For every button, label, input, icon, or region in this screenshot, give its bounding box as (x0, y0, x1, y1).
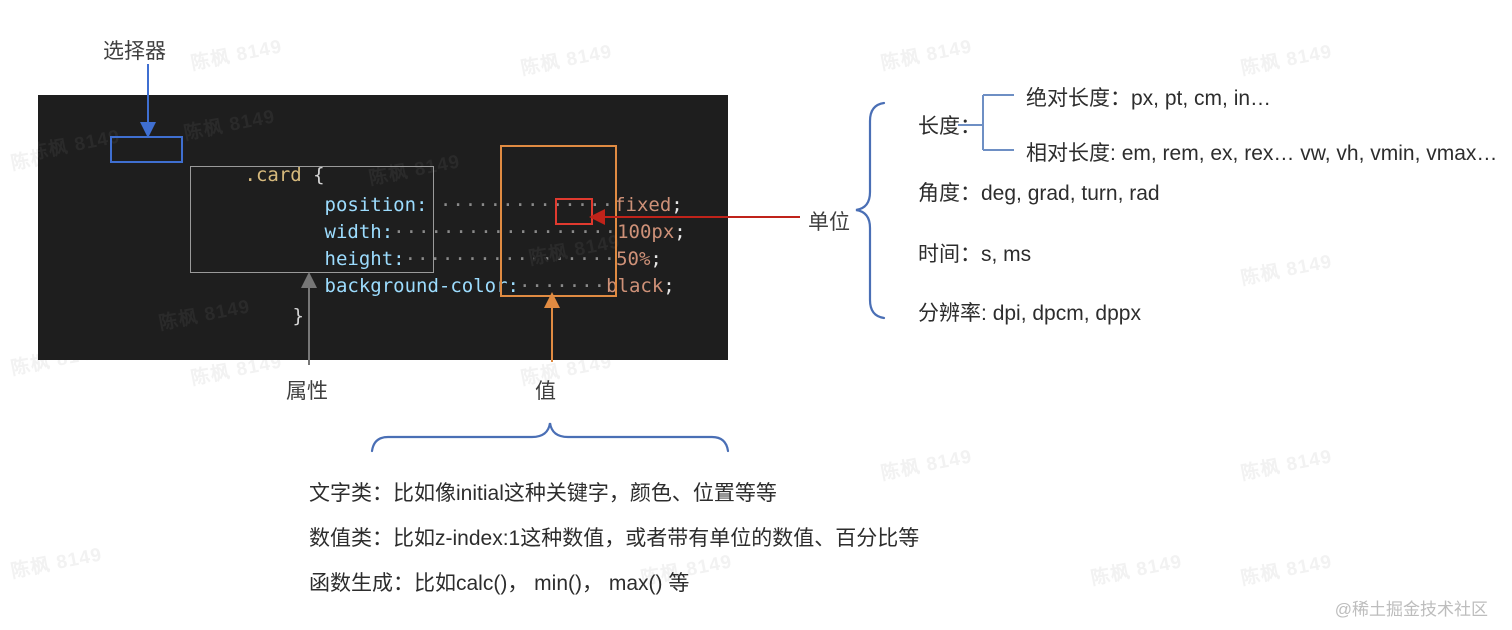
watermark: 陈枫 8149 (1238, 246, 1334, 290)
value-category-text: 函数生成：比如calc()， min()， max() 等 (309, 567, 689, 597)
value-category-text: 文字类：比如像initial这种关键字，颜色、位置等等 (309, 477, 777, 507)
watermark: 陈枫 8149 (878, 31, 974, 75)
unit-highlight-box (555, 198, 593, 225)
selector-highlight-box (110, 136, 183, 163)
label-property: 属性 (286, 375, 328, 405)
code-semicolon: ; (663, 275, 674, 297)
watermark: 陈枫 8149 (1088, 546, 1184, 590)
label-unit: 单位 (808, 206, 850, 236)
unit-row-angle: 角度：deg, grad, turn, rad (918, 177, 1160, 207)
watermark: 陈枫 8149 (878, 441, 974, 485)
unit-row-length: 长度： (918, 110, 981, 140)
unit-row-absolute-length: 绝对长度：px, pt, cm, in… (1026, 82, 1271, 112)
unit-resolution-label: 分辨率: (918, 302, 987, 325)
property-highlight-box (190, 166, 434, 273)
value-category-text: 数值类：比如z-index:1这种数值，或者带有单位的数值、百分比等 (309, 522, 919, 552)
unit-time-values: s, ms (981, 243, 1031, 266)
unit-relative-values: em, rem, ex, rex… vw, vh, vmin, vmax… (1122, 142, 1498, 165)
unit-row-relative-length: 相对长度: em, rem, ex, rex… vw, vh, vmin, vm… (1026, 137, 1497, 167)
unit-time-label: 时间： (918, 243, 981, 266)
watermark: 陈枫 8149 (188, 31, 284, 75)
unit-resolution-values: dpi, dpcm, dppx (993, 302, 1141, 325)
watermark: 陈枫 8149 (1238, 36, 1334, 80)
code-property: background-color: (325, 275, 519, 297)
unit-absolute-label: 绝对长度： (1026, 87, 1131, 110)
unit-absolute-values: px, pt, cm, in… (1131, 87, 1271, 110)
code-close-brace: } (293, 305, 304, 327)
watermark: 陈枫 8149 (1238, 441, 1334, 485)
unit-panel-brace (856, 103, 884, 318)
watermark: 陈枫 8149 (8, 539, 104, 583)
watermark: 陈枫 8149 (1238, 546, 1334, 590)
unit-relative-label: 相对长度: (1026, 142, 1116, 165)
unit-row-resolution: 分辨率: dpi, dpcm, dppx (918, 297, 1141, 327)
value-brace (372, 423, 728, 451)
watermark: 陈枫 8149 (518, 36, 614, 80)
unit-angle-label: 角度： (918, 182, 981, 205)
unit-row-time: 时间：s, ms (918, 238, 1031, 268)
unit-angle-values: deg, grad, turn, rad (981, 182, 1160, 205)
unit-length-label: 长度： (918, 115, 981, 138)
footer-brand: @稀土掘金技术社区 (1335, 595, 1488, 620)
label-value: 值 (535, 375, 556, 405)
label-selector: 选择器 (103, 35, 166, 65)
code-semicolon: ; (674, 221, 685, 243)
diagram-canvas: 陈枫 8149 陈枫 8149 陈枫 8149 陈枫 8149 陈枫 8149 … (0, 0, 1512, 630)
